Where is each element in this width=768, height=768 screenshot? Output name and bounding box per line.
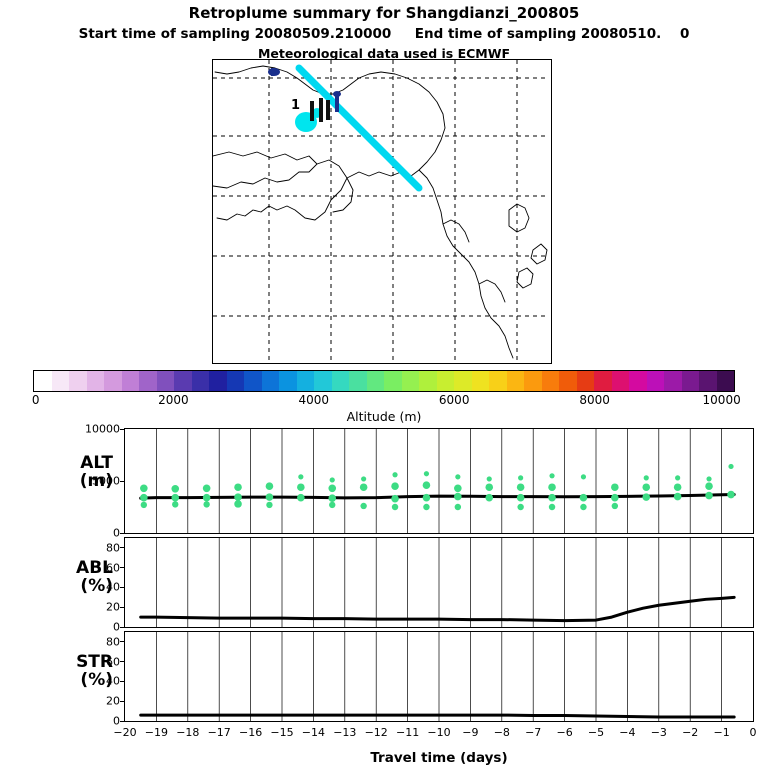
- x-tick-label: −4: [619, 726, 635, 739]
- colorbar-segment: [419, 371, 437, 391]
- colorbar-segment: [157, 371, 175, 391]
- colorbar-segment: [507, 371, 525, 391]
- alt-particle-marker: [674, 493, 682, 501]
- colorbar-segment: [402, 371, 420, 391]
- sampling-time-subtitle: Start time of sampling 20080509.210000 E…: [0, 26, 768, 42]
- colorbar-segment: [542, 371, 560, 391]
- alt-particle-marker: [487, 476, 492, 481]
- x-axis-title: Travel time (days): [124, 750, 754, 766]
- alt-particle-marker: [644, 475, 649, 480]
- colorbar-segment: [227, 371, 245, 391]
- colorbar-tick-label: 10000: [703, 393, 741, 407]
- x-tick-label: 0: [750, 726, 757, 739]
- colorbar-segment: [367, 371, 385, 391]
- alt-particle-marker: [642, 483, 650, 491]
- str-plot-svg: [125, 632, 753, 721]
- colorbar-segment: [472, 371, 490, 391]
- x-tick-label: −8: [494, 726, 510, 739]
- y-tick-label: 80: [76, 541, 120, 554]
- colorbar-segment: [682, 371, 700, 391]
- x-tick-label: −5: [588, 726, 604, 739]
- alt-particle-marker: [140, 484, 148, 492]
- colorbar-segment: [34, 371, 52, 391]
- x-tick-label: −14: [302, 726, 325, 739]
- alt-particle-marker: [392, 504, 398, 510]
- map-marker-label: 1: [291, 98, 300, 113]
- alt-particle-marker: [330, 477, 335, 482]
- alt-particle-marker: [517, 504, 523, 510]
- colorbar-segment: [52, 371, 70, 391]
- x-tick-label: −16: [239, 726, 262, 739]
- colorbar-segment: [122, 371, 140, 391]
- abl-plot: [124, 537, 754, 628]
- alt-particle-marker: [423, 481, 431, 489]
- colorbar-segment: [647, 371, 665, 391]
- str-axis-label: STR (%): [8, 654, 113, 690]
- plume-track: [299, 68, 419, 188]
- alt-particle-marker: [391, 495, 399, 503]
- alt-particle-marker: [423, 504, 429, 510]
- alt-particle-marker: [517, 483, 525, 491]
- colorbar-tick-label: 0: [32, 393, 40, 407]
- abl-axis-label: ABL (%): [8, 560, 113, 596]
- alt-particle-marker: [549, 504, 555, 510]
- alt-particle-marker: [455, 504, 461, 510]
- alt-particle-marker: [580, 504, 586, 510]
- x-tick-label: −10: [427, 726, 450, 739]
- colorbar-segment: [104, 371, 122, 391]
- alt-particle-marker: [611, 483, 619, 491]
- colorbar-segment: [87, 371, 105, 391]
- abl-axis-label-line2: (%): [8, 578, 113, 596]
- colorbar-segment: [699, 371, 717, 391]
- alt-particle-marker: [172, 501, 178, 507]
- colorbar-segment: [332, 371, 350, 391]
- colorbar-segment: [297, 371, 315, 391]
- alt-particle-marker: [392, 472, 397, 477]
- alt-particle-marker: [549, 473, 554, 478]
- colorbar-segment: [279, 371, 297, 391]
- alt-particle-marker: [329, 502, 335, 508]
- alt-particle-marker: [141, 502, 147, 508]
- x-tick-label: −7: [525, 726, 541, 739]
- alt-particle-marker: [674, 483, 682, 491]
- alt-particle-marker: [140, 494, 148, 502]
- alt-particle-marker: [203, 494, 211, 502]
- y-tick-label: 80: [76, 635, 120, 648]
- str-plot: [124, 631, 754, 722]
- colorbar-title: Altitude (m): [0, 409, 768, 424]
- colorbar-segment: [384, 371, 402, 391]
- colorbar-segment: [577, 371, 595, 391]
- alt-particle-marker: [266, 502, 272, 508]
- colorbar-segment: [489, 371, 507, 391]
- alt-particle-marker: [485, 494, 493, 502]
- alt-particle-marker: [171, 494, 179, 502]
- colorbar-tick-label: 6000: [439, 393, 470, 407]
- alt-particle-marker: [518, 475, 523, 480]
- y-tick-label: 20: [76, 695, 120, 708]
- alt-particle-marker: [203, 484, 211, 492]
- alt-particle-marker: [705, 482, 713, 490]
- alt-particle-marker: [298, 474, 303, 479]
- alt-particle-marker: [297, 494, 305, 502]
- abl-plot-svg: [125, 538, 753, 627]
- retroplume-map: 1: [212, 59, 552, 364]
- x-tick-label: −17: [208, 726, 231, 739]
- alt-particle-marker: [611, 494, 619, 502]
- alt-particle-marker: [171, 485, 179, 493]
- alt-particle-marker: [360, 483, 368, 491]
- colorbar-segment: [174, 371, 192, 391]
- alt-axis-label-line2: (m): [8, 473, 113, 491]
- altitude-colorbar: [33, 370, 735, 392]
- colorbar-tick-label: 2000: [158, 393, 189, 407]
- colorbar-gradient: [33, 370, 735, 392]
- alt-particle-marker: [234, 483, 242, 491]
- series-line: [141, 597, 734, 620]
- page-title: Retroplume summary for Shangdianzi_20080…: [0, 4, 768, 22]
- alt-axis-label: ALT (m): [8, 455, 113, 491]
- alt-particle-marker: [485, 483, 493, 491]
- x-tick-label: −13: [333, 726, 356, 739]
- alt-particle-marker: [675, 475, 680, 480]
- colorbar-segment: [209, 371, 227, 391]
- alt-particle-marker: [234, 493, 242, 501]
- alt-particle-marker: [234, 500, 242, 508]
- colorbar-tick-labels: 0200040006000800010000: [33, 393, 735, 407]
- alt-particle-marker: [423, 494, 431, 502]
- alt-particle-marker: [424, 471, 429, 476]
- alt-particle-marker: [266, 482, 274, 490]
- x-tick-label: −2: [682, 726, 698, 739]
- alt-particle-marker: [297, 483, 305, 491]
- alt-particle-marker: [328, 484, 336, 492]
- colorbar-segment: [262, 371, 280, 391]
- map-svg: [213, 60, 549, 361]
- colorbar-segment: [594, 371, 612, 391]
- alt-particle-marker: [361, 476, 366, 481]
- y-tick-label: 0: [76, 527, 120, 540]
- series-line: [141, 715, 734, 717]
- alt-particle-marker: [328, 494, 336, 502]
- colorbar-segment: [629, 371, 647, 391]
- x-tick-label: −19: [145, 726, 168, 739]
- alt-particle-marker: [454, 493, 462, 501]
- alt-particle-marker: [706, 476, 711, 481]
- colorbar-tick-label: 4000: [299, 393, 330, 407]
- colorbar-segment: [437, 371, 455, 391]
- x-tick-label: −9: [462, 726, 478, 739]
- x-tick-label: −1: [713, 726, 729, 739]
- colorbar-segment: [244, 371, 262, 391]
- alt-particle-marker: [612, 503, 618, 509]
- alt-particle-marker: [203, 501, 209, 507]
- alt-particle-marker: [455, 474, 460, 479]
- colorbar-segment: [559, 371, 577, 391]
- alt-particle-marker: [391, 482, 399, 490]
- y-tick-label: 10000: [76, 423, 120, 436]
- y-tick-label: 20: [76, 601, 120, 614]
- alt-particle-marker: [266, 493, 274, 501]
- alt-particle-marker: [454, 484, 462, 492]
- colorbar-segment: [717, 371, 735, 391]
- colorbar-tick-label: 8000: [579, 393, 610, 407]
- alt-particle-marker: [517, 494, 525, 502]
- x-tick-label: −15: [270, 726, 293, 739]
- alt-particle-marker: [548, 483, 556, 491]
- colorbar-segment: [69, 371, 87, 391]
- x-tick-label: −12: [365, 726, 388, 739]
- alt-particle-marker: [360, 503, 366, 509]
- alt-particle-marker: [642, 493, 650, 501]
- alt-plot: [124, 428, 754, 534]
- colorbar-segment: [139, 371, 157, 391]
- str-axis-label-line2: (%): [8, 672, 113, 690]
- colorbar-segment: [192, 371, 210, 391]
- x-tick-label: −11: [396, 726, 419, 739]
- map-coastlines: [213, 66, 547, 358]
- alt-particle-marker: [705, 492, 713, 500]
- alt-particle-marker: [728, 464, 733, 469]
- colorbar-segment: [349, 371, 367, 391]
- colorbar-segment: [314, 371, 332, 391]
- colorbar-segment: [454, 371, 472, 391]
- colorbar-segment: [664, 371, 682, 391]
- alt-particle-marker: [581, 474, 586, 479]
- y-tick-label: 0: [76, 621, 120, 634]
- alt-particle-marker: [548, 494, 556, 502]
- alt-particle-marker: [580, 494, 588, 502]
- colorbar-segment: [612, 371, 630, 391]
- x-tick-label: −3: [651, 726, 667, 739]
- x-tick-label: −20: [113, 726, 136, 739]
- alt-plot-svg: [125, 429, 753, 533]
- alt-particle-marker: [727, 491, 735, 499]
- colorbar-segment: [524, 371, 542, 391]
- x-tick-label: −18: [176, 726, 199, 739]
- y-tick-label: 0: [76, 715, 120, 728]
- x-tick-label: −6: [556, 726, 572, 739]
